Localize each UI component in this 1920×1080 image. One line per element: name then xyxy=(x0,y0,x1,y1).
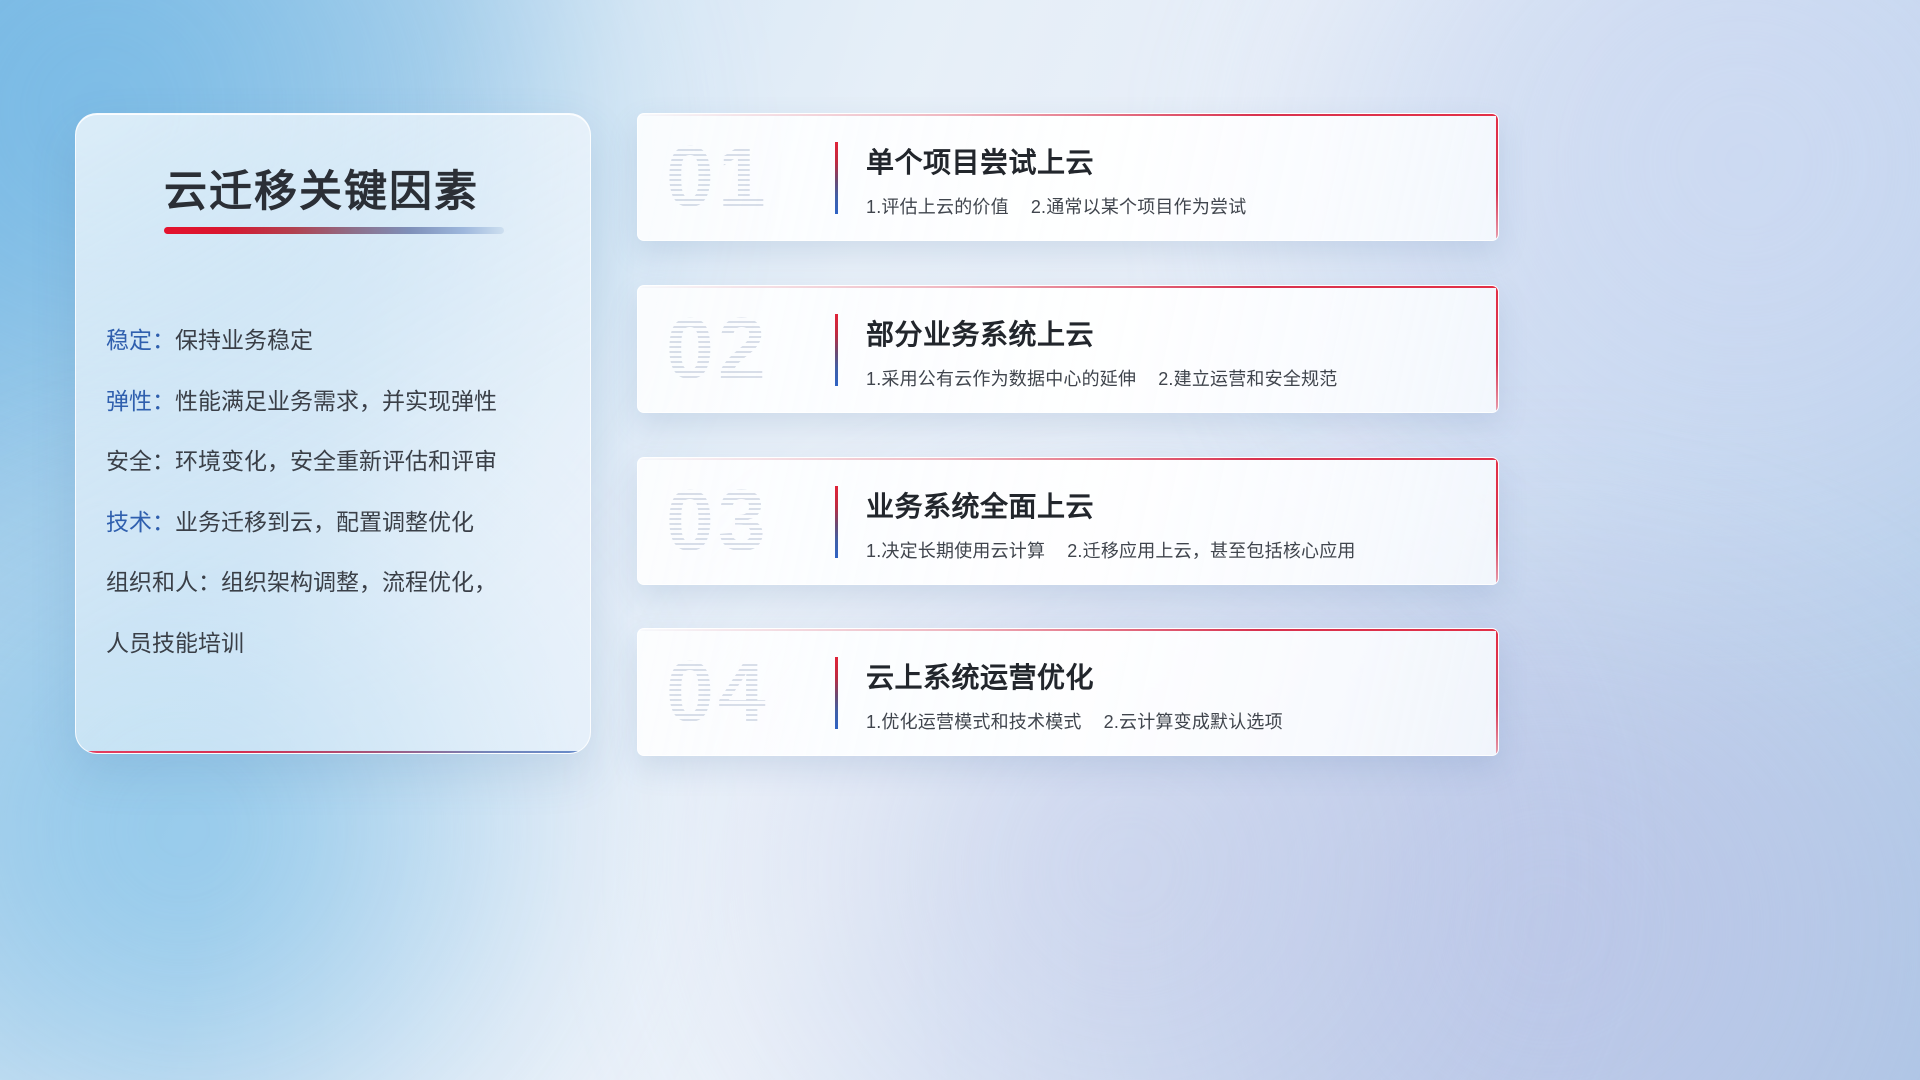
factor-label: 组织和人： xyxy=(106,569,221,595)
card-subtitle: 1.优化运营模式和技术模式2.云计算变成默认选项 xyxy=(866,708,1283,734)
card-title: 业务系统全面上云 xyxy=(866,485,1094,525)
card-divider xyxy=(835,142,838,214)
card-point-2: 2.云计算变成默认选项 xyxy=(1104,712,1283,732)
stage-card-04[interactable]: 04 云上系统运营优化 1.优化运营模式和技术模式2.云计算变成默认选项 xyxy=(637,628,1499,756)
factor-label: 稳定： xyxy=(106,327,175,353)
key-factors-panel: 云迁移关键因素 稳定：保持业务稳定 弹性：性能满足业务需求，并实现弹性 安全：环… xyxy=(75,113,591,754)
factor-item-continuation: 人员技能培训 xyxy=(106,613,576,674)
card-subtitle: 1.采用公有云作为数据中心的延伸2.建立运营和安全规范 xyxy=(866,365,1337,391)
stage-number-02: 02 xyxy=(666,306,770,392)
card-point-2: 2.迁移应用上云，甚至包括核心应用 xyxy=(1067,541,1355,561)
slide-stage: 云迁移关键因素 稳定：保持业务稳定 弹性：性能满足业务需求，并实现弹性 安全：环… xyxy=(0,0,1920,1080)
card-title: 单个项目尝试上云 xyxy=(866,141,1094,181)
factor-label: 安全： xyxy=(106,448,175,474)
card-title: 部分业务系统上云 xyxy=(866,313,1094,353)
factor-item: 弹性：性能满足业务需求，并实现弹性 xyxy=(106,371,576,432)
factor-item: 组织和人：组织架构调整，流程优化， xyxy=(106,552,576,613)
factor-text: 环境变化，安全重新评估和评审 xyxy=(175,448,497,474)
card-divider xyxy=(835,657,838,729)
card-subtitle: 1.决定长期使用云计算2.迁移应用上云，甚至包括核心应用 xyxy=(866,537,1356,563)
factor-list: 稳定：保持业务稳定 弹性：性能满足业务需求，并实现弹性 安全：环境变化，安全重新… xyxy=(106,310,576,673)
factor-item: 技术：业务迁移到云，配置调整优化 xyxy=(106,492,576,553)
factor-label: 弹性： xyxy=(106,388,175,414)
factor-item: 稳定：保持业务稳定 xyxy=(106,310,576,371)
card-point-1: 1.决定长期使用云计算 xyxy=(866,541,1045,561)
card-point-1: 1.评估上云的价值 xyxy=(866,197,1009,217)
factor-text: 性能满足业务需求，并实现弹性 xyxy=(175,388,497,414)
card-divider xyxy=(835,486,838,558)
stage-number-03: 03 xyxy=(666,478,770,564)
card-point-1: 1.优化运营模式和技术模式 xyxy=(866,712,1082,732)
panel-title: 云迁移关键因素 xyxy=(164,157,479,219)
card-subtitle: 1.评估上云的价值2.通常以某个项目作为尝试 xyxy=(866,193,1246,219)
card-point-2: 2.建立运营和安全规范 xyxy=(1158,369,1337,389)
card-title: 云上系统运营优化 xyxy=(866,656,1094,696)
stage-number-01: 01 xyxy=(666,134,770,220)
stage-card-02[interactable]: 02 部分业务系统上云 1.采用公有云作为数据中心的延伸2.建立运营和安全规范 xyxy=(637,285,1499,413)
factor-item: 安全：环境变化，安全重新评估和评审 xyxy=(106,431,576,492)
card-divider xyxy=(835,314,838,386)
stage-number-04: 04 xyxy=(666,649,770,735)
stage-card-03[interactable]: 03 业务系统全面上云 1.决定长期使用云计算2.迁移应用上云，甚至包括核心应用 xyxy=(637,457,1499,585)
card-point-1: 1.采用公有云作为数据中心的延伸 xyxy=(866,369,1136,389)
factor-text: 业务迁移到云，配置调整优化 xyxy=(175,509,474,535)
title-underline-rule xyxy=(164,227,504,234)
factor-label: 技术： xyxy=(106,509,175,535)
stage-card-01[interactable]: 01 单个项目尝试上云 1.评估上云的价值2.通常以某个项目作为尝试 xyxy=(637,113,1499,241)
card-point-2: 2.通常以某个项目作为尝试 xyxy=(1031,197,1247,217)
factor-text: 组织架构调整，流程优化， xyxy=(221,569,497,595)
factor-text: 保持业务稳定 xyxy=(175,327,313,353)
factor-text: 人员技能培训 xyxy=(106,630,244,656)
